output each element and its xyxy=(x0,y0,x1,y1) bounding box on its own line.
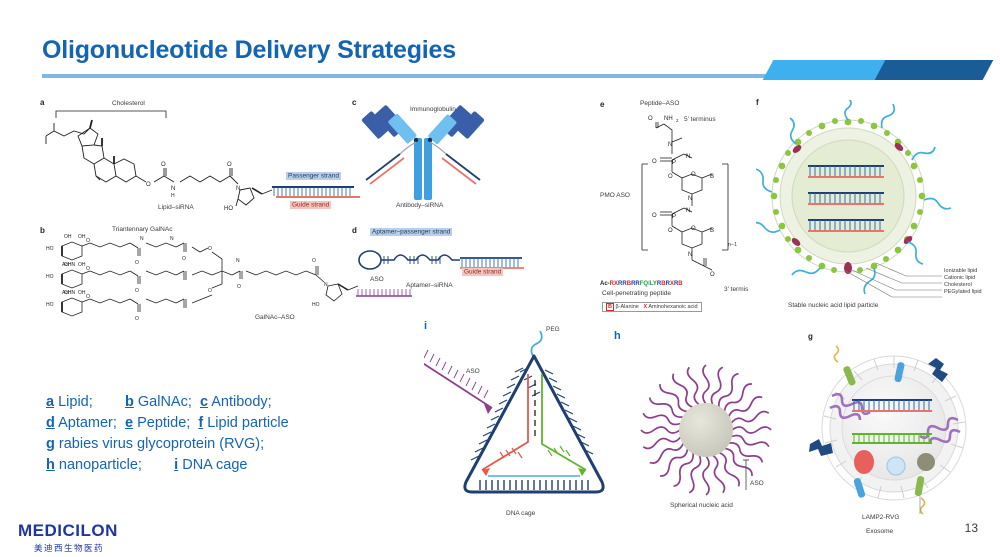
panel-e-n-minus-one-label: n–1 xyxy=(728,242,737,248)
legend-key-g: g xyxy=(46,436,55,452)
svg-text:N: N xyxy=(171,186,175,192)
svg-text:P: P xyxy=(672,214,676,220)
panel-h-sna-graphic xyxy=(614,334,814,514)
panel-b-structure: HO OH OH AcHN HO OH OH AcHN HO OH OH O O… xyxy=(40,226,370,326)
panel-b-name-caption: GalNAc–ASO xyxy=(255,314,295,321)
legend-text-g: rabies virus glycoprotein (RVG); xyxy=(55,436,264,452)
legend-text-a: Lipid; xyxy=(54,394,125,410)
panel-h-name-caption: Spherical nucleic acid xyxy=(670,502,733,509)
svg-text:B: B xyxy=(710,228,714,234)
svg-text:HO: HO xyxy=(224,206,233,212)
svg-text:2: 2 xyxy=(676,118,679,123)
svg-text:N: N xyxy=(236,258,240,264)
panel-b-galnac-aso: b Triantennary GalNAc xyxy=(40,226,370,326)
svg-text:O: O xyxy=(146,182,151,188)
panel-i-dna-cage: i PEG ASO xyxy=(424,320,624,525)
svg-text:N: N xyxy=(324,282,328,288)
brand-logo: MEDICILON 美迪西生物医药 xyxy=(18,521,118,554)
slide-number: 13 xyxy=(965,521,978,535)
legend-text-i: DNA cage xyxy=(178,457,247,473)
panel-g-exosome-graphic xyxy=(808,336,998,526)
panel-e-key-x-text: Aminohexanoic acid xyxy=(648,304,697,310)
svg-text:B: B xyxy=(710,174,714,180)
panel-c-antibody-sirna: c xyxy=(352,98,512,218)
legend-text-h: nanoparticle; xyxy=(55,457,174,473)
panel-e-key-b-symbol: B xyxy=(606,303,614,311)
panel-d-label: d xyxy=(352,226,357,235)
svg-text:OH: OH xyxy=(64,234,72,240)
svg-text:O: O xyxy=(312,258,316,264)
title-underline-rule xyxy=(42,74,772,78)
svg-text:N: N xyxy=(688,252,692,258)
svg-text:O: O xyxy=(652,213,657,219)
svg-text:HO: HO xyxy=(46,302,54,308)
panel-e-key-b-text: β-Alanine xyxy=(616,304,639,310)
legend-key-b: b xyxy=(125,394,134,410)
panel-key-legend: a Lipid; b GalNAc; c Antibody;d Aptamer;… xyxy=(46,392,289,476)
svg-text:N: N xyxy=(668,142,672,148)
svg-text:O: O xyxy=(208,246,212,252)
panel-f-legend-pegylated-lipid: PEGylated lipid xyxy=(944,289,982,295)
brand-name-en: MEDICILON xyxy=(18,521,118,541)
panel-i-name-caption: DNA cage xyxy=(506,510,535,517)
legend-key-d: d xyxy=(46,415,55,431)
panel-d-guide-strand-label: Guide strand xyxy=(462,268,503,275)
panel-e-peptide-residues: RXRRBRRFQILYRBRXRB xyxy=(610,281,683,287)
panel-f-name-caption: Stable nucleic acid lipid particle xyxy=(788,302,878,309)
page-title: Oligonucleotide Delivery Strategies xyxy=(42,36,456,65)
svg-text:N: N xyxy=(688,196,692,202)
legend-text-e: Peptide; xyxy=(133,415,198,431)
svg-text:N: N xyxy=(686,208,690,214)
panel-e-cpp-sequence: Ac-RXRRBRRFQILYRBRXRB xyxy=(600,272,683,290)
panel-c-antibody-graphic: ​ xyxy=(352,98,512,218)
panel-c-name-caption: Antibody–siRNA xyxy=(396,202,443,209)
svg-text:OH: OH xyxy=(78,262,86,268)
legend-key-h: h xyxy=(46,457,55,473)
svg-text:O: O xyxy=(648,116,653,122)
svg-text:O: O xyxy=(237,284,241,290)
legend-key-e: e xyxy=(125,415,133,431)
svg-text:O: O xyxy=(86,238,90,244)
panel-e-peptide-aso: e Peptide–ASO 5′ terminus PMO ASO 3′ ter… xyxy=(600,100,765,315)
svg-text:O: O xyxy=(668,174,673,180)
svg-text:O: O xyxy=(86,294,90,300)
panel-a-passenger-strand-label: Passenger strand xyxy=(286,172,341,179)
svg-text:P: P xyxy=(672,160,676,166)
svg-text:O: O xyxy=(182,256,186,262)
panel-d-name-caption: Aptamer–siRNA xyxy=(406,282,453,289)
panel-f-legend-cationic-lipid: Cationic lipid xyxy=(944,275,975,281)
legend-line-3: g rabies virus glycoprotein (RVG); xyxy=(46,434,289,455)
panel-d-aptamer-passenger-label: Aptamer–passenger strand xyxy=(370,228,452,235)
svg-text:H: H xyxy=(171,193,175,199)
svg-text:OH: OH xyxy=(64,262,72,268)
svg-text:O: O xyxy=(691,226,696,232)
panel-e-cpp-caption: Cell-penetrating peptide xyxy=(602,290,671,297)
svg-text:OH: OH xyxy=(78,234,86,240)
brand-name-cn: 美迪西生物医药 xyxy=(34,542,118,554)
svg-text:O: O xyxy=(208,288,212,294)
legend-key-a: a xyxy=(46,394,54,410)
legend-key-c: c xyxy=(200,394,208,410)
panel-g-name-caption: Exosome xyxy=(866,528,893,535)
panel-g-lamp2-rvg-label: LAMP2-RVG xyxy=(862,514,899,521)
legend-text-d: Aptamer; xyxy=(55,415,125,431)
panel-d-aptamer-sirna: d Aptamer–passenger strand xyxy=(352,226,522,306)
svg-text:O: O xyxy=(135,288,139,294)
panel-i-cage-graphic xyxy=(424,324,624,514)
panel-a-name-caption: Lipid–siRNA xyxy=(158,204,194,211)
panel-f-legend-ionizable-lipid: Ionizable lipid xyxy=(944,268,977,274)
svg-text:N: N xyxy=(686,154,690,160)
panel-a-lipid-sirna: a Cholesterol O O N H O xyxy=(40,98,340,218)
legend-line-1: a Lipid; b GalNAc; c Antibody; xyxy=(46,392,289,413)
panel-e-residue-key: B β-Alanine X Aminohexanoic acid xyxy=(602,302,702,312)
svg-text:O: O xyxy=(135,316,139,322)
svg-text:NH: NH xyxy=(664,116,673,122)
svg-text:O: O xyxy=(86,266,90,272)
svg-text:O: O xyxy=(691,172,696,178)
legend-text-b: GalNAc; xyxy=(134,394,200,410)
panel-f-lipid-particle: f xyxy=(756,98,1000,316)
panel-c-immunoglobulin-caption: Immunoglobulin xyxy=(410,106,456,113)
svg-text:N: N xyxy=(170,236,174,242)
svg-text:HO: HO xyxy=(46,246,54,252)
svg-text:O: O xyxy=(227,162,232,168)
panel-f-legend-cholesterol: Cholesterol xyxy=(944,282,972,288)
legend-text-c: Antibody; xyxy=(208,394,272,410)
panel-h-spherical-nucleic-acid: h xyxy=(614,330,814,525)
legend-text-f: Lipid particle xyxy=(203,415,288,431)
svg-text:OH: OH xyxy=(64,290,72,296)
svg-text:HO: HO xyxy=(46,274,54,280)
svg-text:O: O xyxy=(161,162,166,168)
svg-text:O: O xyxy=(652,159,657,165)
legend-line-2: d Aptamer; e Peptide; f Lipid particle xyxy=(46,413,289,434)
svg-text:O: O xyxy=(710,272,715,278)
svg-text:HO: HO xyxy=(312,302,320,308)
svg-text:O: O xyxy=(668,228,673,234)
svg-text:O: O xyxy=(135,260,139,266)
legend-line-4: h nanoparticle; i DNA cage xyxy=(46,455,289,476)
svg-text:N: N xyxy=(140,236,144,242)
svg-text:OH: OH xyxy=(78,290,86,296)
header-accent-dark xyxy=(875,60,994,80)
panel-a-structure: O O N H O N HO xyxy=(40,98,340,218)
panel-e-key-x-symbol: X xyxy=(643,304,647,310)
panel-g-exosome: g xyxy=(808,332,998,532)
panel-a-guide-strand-label: Guide strand xyxy=(290,201,331,208)
panel-h-aso-label: ASO xyxy=(750,480,764,487)
